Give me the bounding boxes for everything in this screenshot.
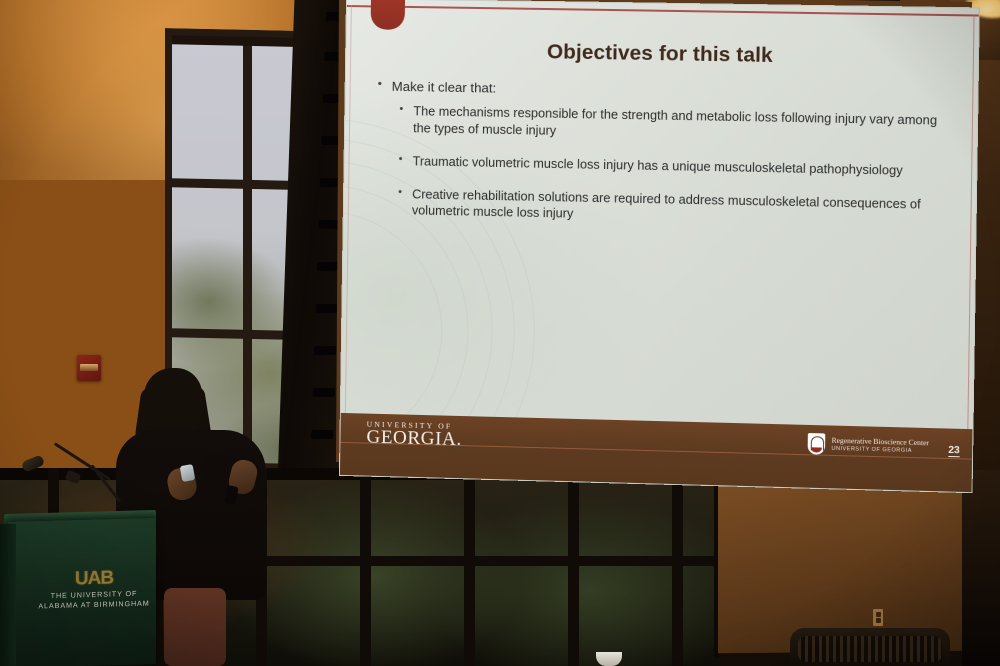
bullet-item: Traumatic volumetric muscle loss injury … [372, 152, 953, 180]
presentation-slide: Objectives for this talk Make it clear t… [339, 0, 980, 493]
power-outlet-icon [873, 609, 883, 626]
uga-arch-shield-icon [808, 433, 826, 455]
slide-top-rule [347, 5, 979, 16]
cup [596, 652, 622, 666]
bullet-item: The mechanisms responsible for the stren… [373, 103, 955, 147]
slide-bullet-list: Make it clear that: The mechanisms respo… [371, 77, 954, 246]
projection-screen: Objectives for this talk Make it clear t… [336, 0, 976, 482]
shield-tab-icon [371, 0, 406, 30]
bullet-item: Creative rehabilitation solutions are re… [372, 185, 954, 230]
regenerative-bioscience-center-logo: Regenerative Bioscience Center UNIVERSIT… [808, 433, 929, 457]
far-right-dark-wall [962, 470, 1000, 666]
uga-wordmark: UNIVERSITY OF GEORGIA. [366, 420, 462, 452]
slide-footer: UNIVERSITY OF GEORGIA. Regenerative Bios… [340, 413, 973, 492]
uab-branding: UAB THE UNIVERSITY OF ALABAMA AT BIRMING… [36, 566, 152, 612]
uga-wordmark-big: GEORGIA. [366, 427, 462, 452]
fire-alarm-icon [77, 355, 101, 381]
slide-number: 23 [948, 445, 960, 457]
presenter-hair [144, 368, 202, 434]
uab-logo: UAB [36, 566, 152, 591]
podium-side [0, 524, 16, 666]
presenter-legs [164, 588, 226, 666]
slide-title: Objectives for this talk [346, 37, 978, 71]
slide-right-rule [967, 14, 975, 435]
bullet-item: Make it clear that: [374, 77, 955, 105]
chair [790, 628, 950, 666]
presentation-clicker [180, 464, 196, 482]
right-wall-panel [718, 471, 968, 654]
conference-room-photo: Objectives for this talk Make it clear t… [0, 0, 1000, 666]
